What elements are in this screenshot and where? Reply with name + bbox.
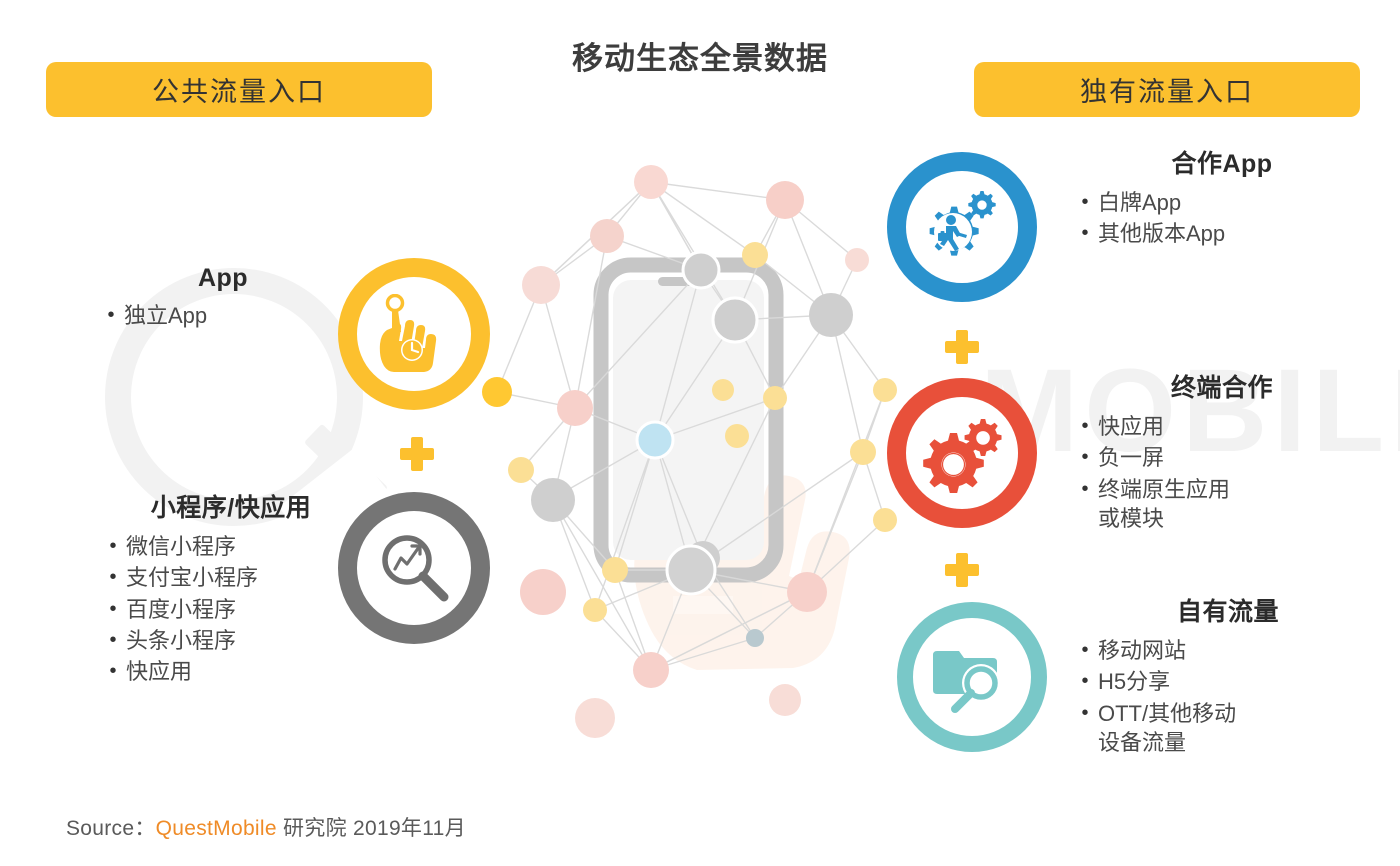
group-app-title: App	[88, 264, 358, 293]
plus-icon	[945, 553, 979, 587]
group-partner-app-list: • 白牌App • 其他版本App	[1072, 188, 1372, 249]
bullet-dot-icon: •	[1072, 636, 1098, 665]
list-item-label: 移动网站	[1098, 636, 1384, 665]
gear-person-icon	[921, 187, 1003, 267]
pointing-hand-circle	[338, 258, 490, 410]
list-item: • OTT/其他移动设备流量	[1072, 699, 1384, 758]
bullet-dot-icon: •	[1072, 188, 1098, 217]
banner-public-traffic-label: 公共流量入口	[152, 70, 326, 109]
magnifier-chart-circle	[338, 492, 490, 644]
bullet-dot-icon: •	[1072, 667, 1098, 696]
bullet-dot-icon: •	[100, 657, 126, 686]
list-item: • 快应用	[1072, 412, 1372, 441]
list-item-label: 微信小程序	[126, 532, 362, 561]
list-item: • 头条小程序	[100, 626, 362, 655]
bullet-dot-icon: •	[100, 595, 126, 624]
list-item-label: H5分享	[1098, 667, 1384, 696]
bullet-dot-icon: •	[1072, 443, 1098, 472]
group-miniprogram: 小程序/快应用 • 微信小程序 • 支付宝小程序 • 百度小程序 • 头条小程序…	[100, 488, 362, 688]
list-item: • 负一屏	[1072, 443, 1372, 472]
list-item: • 终端原生应用或模块	[1072, 475, 1372, 534]
group-miniprogram-list: • 微信小程序 • 支付宝小程序 • 百度小程序 • 头条小程序 • 快应用	[100, 532, 362, 686]
list-item-label: 其他版本App	[1098, 219, 1372, 248]
bullet-dot-icon: •	[98, 301, 124, 330]
list-item: • 其他版本App	[1072, 219, 1372, 248]
infographic-canvas: MOBILE	[0, 0, 1400, 866]
folder-search-icon	[931, 637, 1013, 717]
banner-exclusive-traffic: 独有流量入口	[974, 62, 1360, 117]
list-item-label: 支付宝小程序	[126, 563, 362, 592]
group-terminal-cooperation-title: 终端合作	[1072, 368, 1372, 404]
banner-exclusive-traffic-label: 独有流量入口	[1080, 70, 1254, 109]
list-item: • 独立App	[88, 301, 358, 330]
list-item-label: 快应用	[126, 657, 362, 686]
source-rest: 研究院 2019年11月	[277, 817, 466, 840]
gear-person-circle	[887, 152, 1037, 302]
group-miniprogram-title: 小程序/快应用	[100, 488, 362, 524]
source-brand: QuestMobile	[156, 817, 277, 840]
source-label: Source：	[66, 817, 156, 840]
group-own-traffic: 自有流量 • 移动网站 • H5分享 • OTT/其他移动设备流量	[1072, 592, 1384, 759]
list-item: • 百度小程序	[100, 595, 362, 624]
bullet-dot-icon: •	[1072, 219, 1098, 248]
list-item: • 快应用	[100, 657, 362, 686]
bullet-dot-icon: •	[100, 563, 126, 592]
group-app-list: • 独立App	[88, 301, 358, 330]
list-item-label: 终端原生应用或模块	[1098, 475, 1372, 534]
gears-icon	[920, 413, 1004, 493]
group-partner-app-title: 合作App	[1072, 144, 1372, 180]
group-terminal-cooperation: 终端合作 • 快应用 • 负一屏 • 终端原生应用或模块	[1072, 368, 1372, 535]
list-item-label: OTT/其他移动设备流量	[1098, 699, 1384, 758]
list-item: • 支付宝小程序	[100, 563, 362, 592]
banner-public-traffic: 公共流量入口	[46, 62, 432, 117]
bullet-dot-icon: •	[100, 626, 126, 655]
plus-icon	[945, 330, 979, 364]
bullet-dot-icon: •	[1072, 699, 1098, 728]
pointing-hand-icon	[375, 294, 453, 374]
bullet-dot-icon: •	[1072, 475, 1098, 504]
list-item-label: 独立App	[124, 301, 358, 330]
magnifier-chart-icon	[374, 528, 454, 608]
group-terminal-cooperation-list: • 快应用 • 负一屏 • 终端原生应用或模块	[1072, 412, 1372, 533]
list-item-label: 百度小程序	[126, 595, 362, 624]
list-item: • 微信小程序	[100, 532, 362, 561]
list-item: • 移动网站	[1072, 636, 1384, 665]
list-item-label: 白牌App	[1098, 188, 1372, 217]
group-app: App • 独立App	[88, 264, 358, 332]
source-line: Source：QuestMobile 研究院 2019年11月	[66, 812, 466, 842]
list-item-label: 快应用	[1098, 412, 1372, 441]
list-item: • H5分享	[1072, 667, 1384, 696]
group-partner-app: 合作App • 白牌App • 其他版本App	[1072, 144, 1372, 251]
group-own-traffic-list: • 移动网站 • H5分享 • OTT/其他移动设备流量	[1072, 636, 1384, 757]
list-item: • 白牌App	[1072, 188, 1372, 217]
group-own-traffic-title: 自有流量	[1072, 592, 1384, 628]
plus-icon	[400, 437, 434, 471]
list-item-label: 负一屏	[1098, 443, 1372, 472]
gears-circle	[887, 378, 1037, 528]
bullet-dot-icon: •	[100, 532, 126, 561]
list-item-label: 头条小程序	[126, 626, 362, 655]
folder-search-circle	[897, 602, 1047, 752]
network-graphic	[455, 140, 935, 740]
bullet-dot-icon: •	[1072, 412, 1098, 441]
